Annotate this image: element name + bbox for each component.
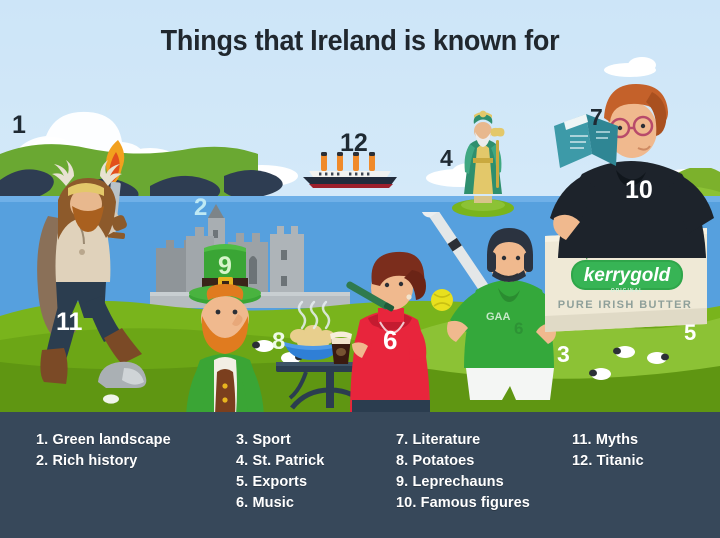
svg-text:GAA: GAA <box>486 311 511 323</box>
legend-item-label: Rich history <box>52 453 137 469</box>
legend-item-number: 7. <box>396 432 408 448</box>
marker-myths: 11 <box>56 310 82 335</box>
legend-item-label: Myths <box>596 432 638 448</box>
legend-item: 2. Rich history <box>36 451 171 472</box>
legend-item-label: Music <box>252 495 294 511</box>
legend-item-number: 2. <box>36 453 48 469</box>
svg-text:6: 6 <box>514 319 523 338</box>
marker-leprechauns: 9 <box>218 254 232 279</box>
stone-rock <box>94 358 150 388</box>
legend-item-label: Titanic <box>597 453 644 469</box>
marker-titanic: 12 <box>340 131 368 156</box>
legend-item-label: Famous figures <box>421 495 530 511</box>
legend-item-number: 1. <box>36 432 48 448</box>
legend-item-label: Green landscape <box>52 432 170 448</box>
legend-column-1: 1. Green landscape2. Rich history <box>36 430 171 472</box>
legend-item-label: Potatoes <box>412 453 474 469</box>
st-patrick-statue <box>452 100 514 218</box>
legend-item-number: 12. <box>572 453 592 469</box>
legend-item: 5. Exports <box>236 472 324 493</box>
legend-item: 10. Famous figures <box>396 493 530 514</box>
legend-item: 9. Leprechauns <box>396 472 530 493</box>
legend-item: 7. Literature <box>396 430 530 451</box>
marker-green-landscape: 1 <box>12 113 26 138</box>
legend-item: 1. Green landscape <box>36 430 171 451</box>
legend-item-number: 4. <box>236 453 248 469</box>
page-title: Things that Ireland is known for <box>25 25 695 58</box>
steam-icon <box>290 300 340 330</box>
legend-item-number: 6. <box>236 495 248 511</box>
legend-item-label: Exports <box>252 474 307 490</box>
marker-rich-history: 2 <box>194 196 207 220</box>
legend-item: 3. Sport <box>236 430 324 451</box>
legend-footer: 1. Green landscape2. Rich history3. Spor… <box>0 412 720 538</box>
legend-item-number: 10. <box>396 495 416 511</box>
svg-text:ORIGINAL: ORIGINAL <box>611 288 643 294</box>
legend-item: 11. Myths <box>572 430 644 451</box>
legend-column-2: 3. Sport4. St. Patrick5. Exports6. Music <box>236 430 324 514</box>
legend-item-label: Sport <box>252 432 290 448</box>
marker-exports: 5 <box>684 322 696 344</box>
marker-potatoes: 8 <box>272 330 285 354</box>
svg-text:PURE IRISH BUTTER: PURE IRISH BUTTER <box>558 299 692 311</box>
marker-music: 6 <box>383 327 397 353</box>
legend-item: 4. St. Patrick <box>236 451 324 472</box>
legend-item-number: 3. <box>236 432 248 448</box>
legend-column-4: 11. Myths12. Titanic <box>572 430 644 472</box>
celtic-warrior-figure <box>20 130 160 390</box>
legend-item-number: 9. <box>396 474 408 490</box>
legend-item: 12. Titanic <box>572 451 644 472</box>
legend-item-label: Literature <box>412 432 480 448</box>
legend-item-number: 5. <box>236 474 248 490</box>
legend-item-number: 11. <box>572 432 592 448</box>
legend-item-label: St. Patrick <box>252 453 324 469</box>
infographic-poster: GAA 6 PURE IRISH DAIRY kerrygold ORI <box>0 0 720 538</box>
svg-text:kerrygold: kerrygold <box>584 265 671 286</box>
marker-famous-figures: 10 <box>625 178 653 203</box>
legend-item: 8. Potatoes <box>396 451 530 472</box>
legend-column-3: 7. Literature8. Potatoes9. Leprechauns10… <box>396 430 530 514</box>
marker-st-patrick: 4 <box>440 147 453 170</box>
reader-figure <box>542 78 720 258</box>
legend-item: 6. Music <box>236 493 324 514</box>
marker-sport: 3 <box>557 343 570 366</box>
marker-literature: 7 <box>590 106 603 129</box>
legend-item-number: 8. <box>396 453 408 469</box>
legend-item-label: Leprechauns <box>412 474 503 490</box>
